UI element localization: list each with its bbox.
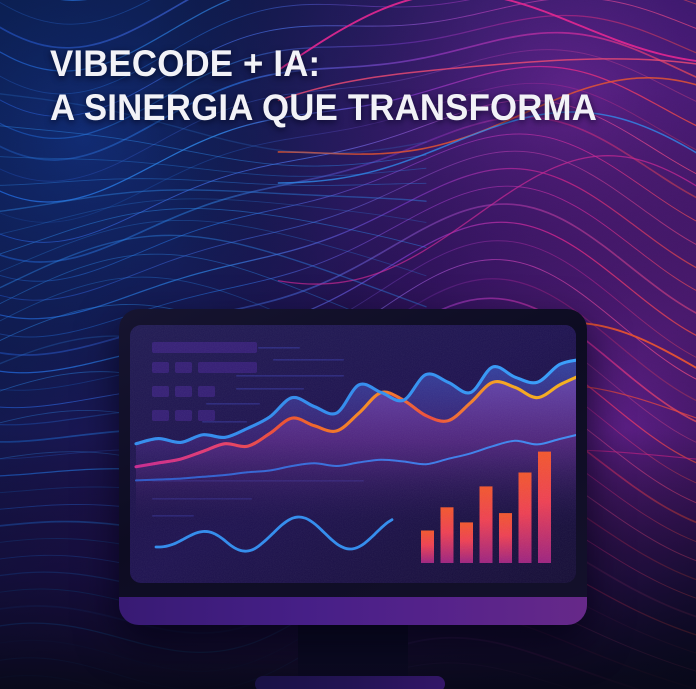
poster-headline: VIBECODE + IA: A SINERGIA QUE TRANSFORMA (50, 42, 597, 130)
headline-line-1: VIBECODE + IA: (50, 43, 320, 84)
dashboard-artwork (130, 325, 576, 583)
monitor (119, 309, 587, 625)
monitor-bottom-strip (119, 597, 587, 625)
headline-line-2: A SINERGIA QUE TRANSFORMA (50, 86, 597, 130)
poster-canvas: VIBECODE + IA: A SINERGIA QUE TRANSFORMA (0, 0, 696, 689)
monitor-screen[interactable] (130, 325, 576, 583)
monitor-base (255, 676, 445, 689)
